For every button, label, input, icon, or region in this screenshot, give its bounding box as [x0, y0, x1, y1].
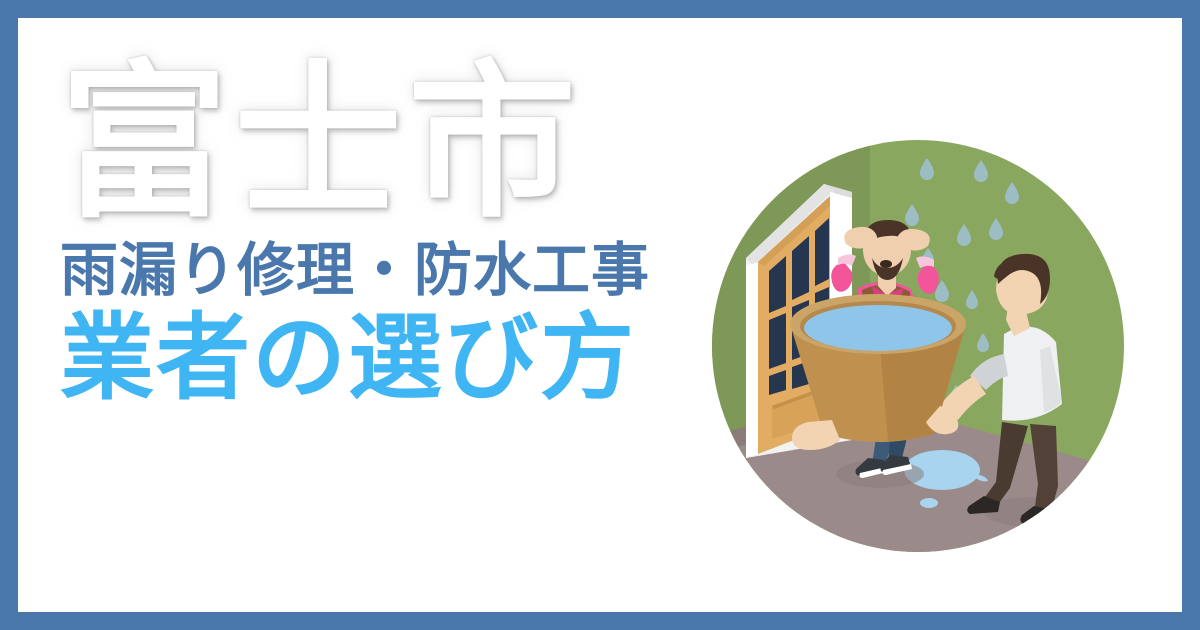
rain-leak-illustration: [712, 140, 1124, 552]
text-block: 富士市 雨漏り修理・防水工事 業者の選び方: [60, 58, 720, 411]
mouth: [880, 260, 892, 268]
subtitle-service: 雨漏り修理・防水工事: [60, 237, 720, 304]
door-jamb-left: [746, 262, 758, 458]
ogp-card: 富士市 雨漏り修理・防水工事 業者の選び方: [18, 18, 1182, 612]
illustration-svg: [712, 140, 1124, 552]
bucket-water: [804, 305, 952, 351]
headline-how-to-choose: 業者の選び方: [60, 306, 720, 411]
illustration-scene: [712, 140, 1124, 552]
page-title-city: 富士市: [60, 58, 720, 229]
